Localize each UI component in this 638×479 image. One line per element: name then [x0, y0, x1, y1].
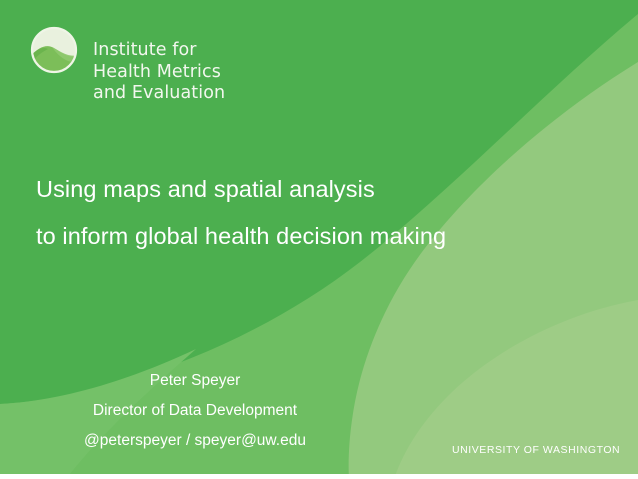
wordmark-line-3: and Evaluation [93, 83, 225, 105]
presenter-name: Peter Speyer [36, 366, 354, 396]
slide-title: Using maps and spatial analysis to infor… [36, 166, 446, 260]
ihme-wordmark: Institute for Health Metrics and Evaluat… [93, 40, 225, 105]
wordmark-line-2: Health Metrics [93, 62, 225, 84]
title-line-1: Using maps and spatial analysis [36, 166, 446, 213]
wordmark-line-1: Institute for [93, 40, 225, 62]
ihme-circle-leaf-logo-icon [30, 26, 78, 74]
bottom-trim [0, 474, 638, 479]
presenter-contact: @peterspeyer / speyer@uw.edu [36, 426, 354, 456]
presenter-role: Director of Data Development [36, 396, 354, 426]
ihme-logo: Institute for Health Metrics and Evaluat… [30, 24, 225, 105]
title-line-2: to inform global health decision making [36, 213, 446, 260]
university-name: UNIVERSITY OF WASHINGTON [452, 444, 620, 456]
presenter-info: Peter Speyer Director of Data Developmen… [36, 366, 354, 456]
title-slide: Institute for Health Metrics and Evaluat… [0, 0, 638, 479]
arc-pale-right [349, 62, 638, 479]
